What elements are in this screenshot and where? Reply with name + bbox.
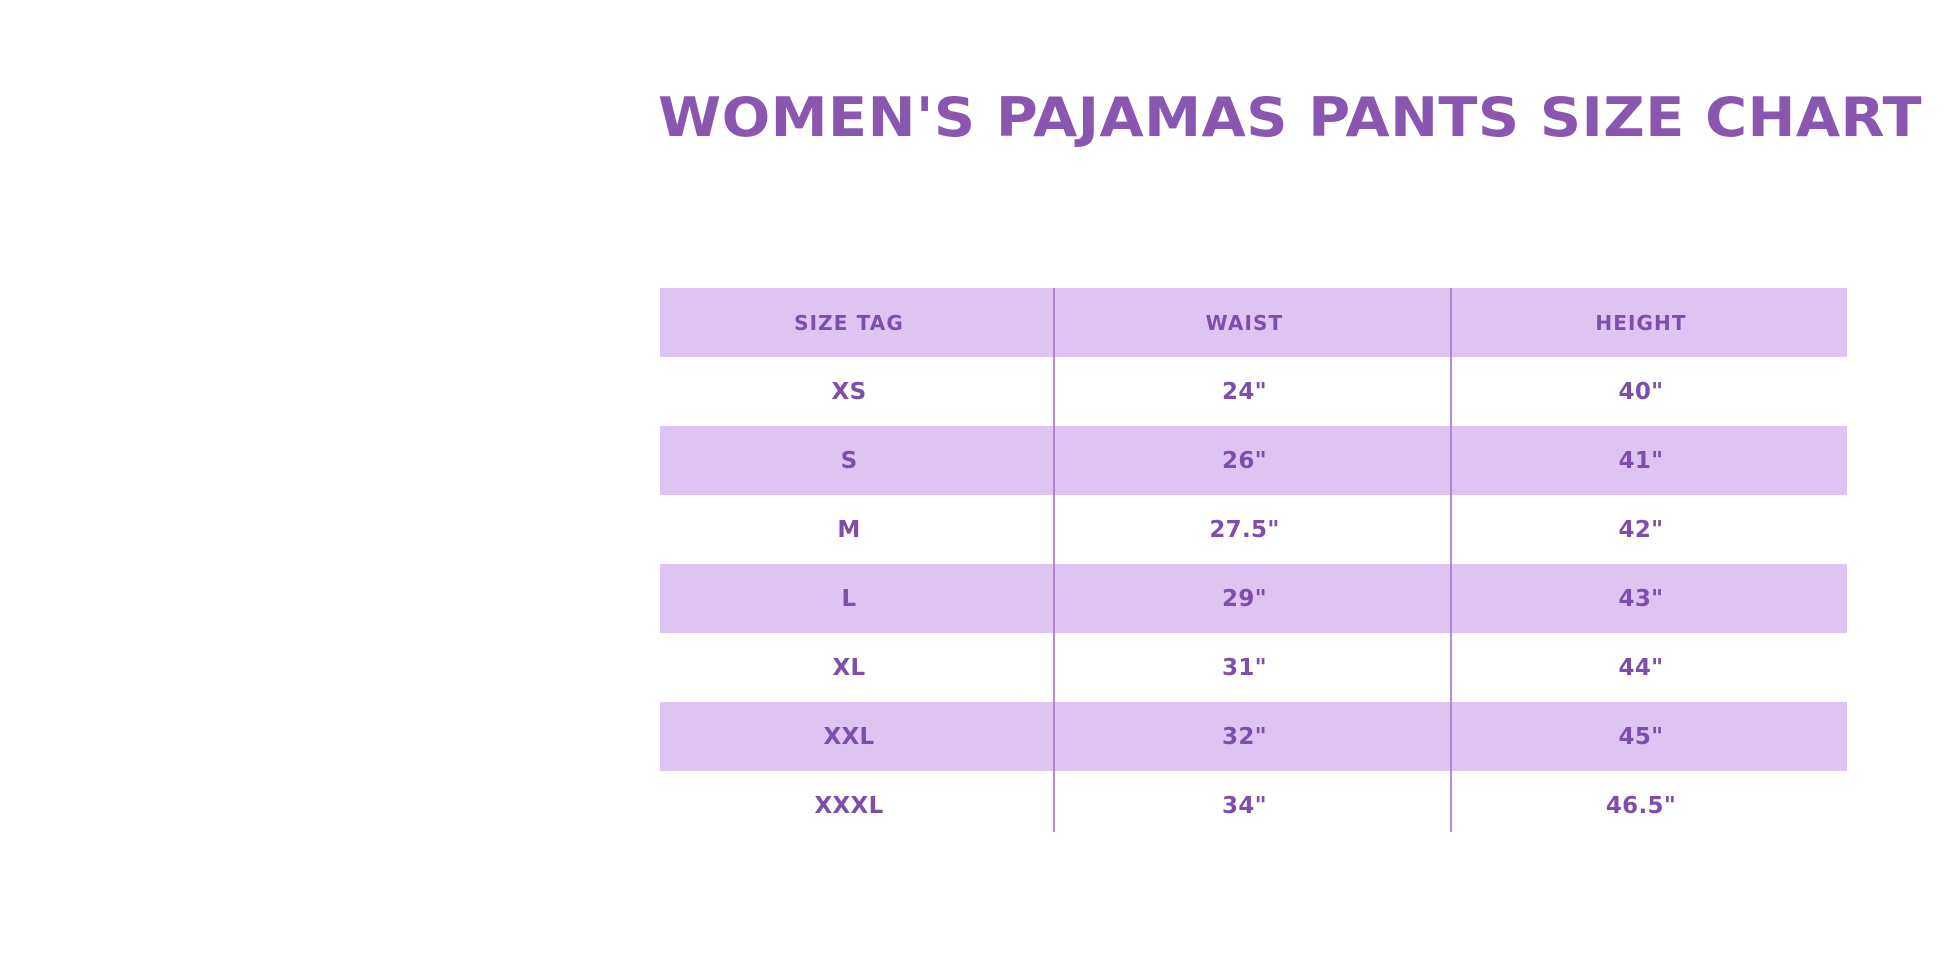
- cell-waist-value: 24": [1222, 379, 1267, 405]
- cell-height-value: 44": [1619, 655, 1664, 681]
- cell-waist: 29": [1054, 564, 1451, 633]
- cell-waist: 26": [1054, 426, 1451, 495]
- cell-height-value: 41": [1619, 448, 1664, 474]
- cell-height-value: 40": [1619, 379, 1664, 405]
- cell-size-tag: M: [660, 495, 1054, 564]
- cell-waist: 34": [1054, 771, 1451, 840]
- cell-size-tag: XL: [660, 633, 1054, 702]
- cell-size-tag-value: L: [842, 586, 857, 612]
- cell-size-tag-value: XL: [833, 655, 866, 681]
- table-header-row: SIZE TAG WAIST HEIGHT: [660, 288, 1847, 357]
- cell-size-tag: XXL: [660, 702, 1054, 771]
- table-row: XXL 32" 45": [660, 702, 1847, 771]
- cell-waist-value: 26": [1222, 448, 1267, 474]
- cell-waist: 27.5": [1054, 495, 1451, 564]
- cell-waist-value: 32": [1222, 724, 1267, 750]
- cell-size-tag: XS: [660, 357, 1054, 426]
- cell-height-value: 46.5": [1606, 793, 1676, 819]
- cell-waist-value: 31": [1222, 655, 1267, 681]
- cell-size-tag: L: [660, 564, 1054, 633]
- cell-height: 45": [1451, 702, 1847, 771]
- table-body: XS 24" 40" S 26" 41" M 27.5" 42" L 29": [660, 357, 1847, 840]
- column-header-height-label: HEIGHT: [1595, 311, 1686, 335]
- cell-height-value: 42": [1619, 517, 1664, 543]
- cell-size-tag-value: XXXL: [814, 793, 883, 819]
- cell-height: 42": [1451, 495, 1847, 564]
- page-title: WOMEN'S PAJAMAS PANTS SIZE CHART: [622, 86, 1946, 150]
- table-row: XL 31" 44": [660, 633, 1847, 702]
- cell-height-value: 43": [1619, 586, 1664, 612]
- table-row: L 29" 43": [660, 564, 1847, 633]
- cell-height: 43": [1451, 564, 1847, 633]
- column-header-size-tag: SIZE TAG: [660, 288, 1054, 357]
- column-divider-first: [1053, 288, 1055, 832]
- cell-waist-value: 34": [1222, 793, 1267, 819]
- column-header-waist: WAIST: [1054, 288, 1451, 357]
- cell-waist: 31": [1054, 633, 1451, 702]
- table-row: S 26" 41": [660, 426, 1847, 495]
- cell-size-tag: S: [660, 426, 1054, 495]
- size-chart-table-wrapper: SIZE TAG WAIST HEIGHT XS 24" 40": [660, 288, 1847, 832]
- table-row: M 27.5" 42": [660, 495, 1847, 564]
- cell-height: 41": [1451, 426, 1847, 495]
- cell-height: 46.5": [1451, 771, 1847, 840]
- column-header-size-tag-label: SIZE TAG: [794, 311, 904, 335]
- cell-height: 40": [1451, 357, 1847, 426]
- cell-waist-value: 27.5": [1209, 517, 1279, 543]
- cell-height-value: 45": [1619, 724, 1664, 750]
- cell-waist: 24": [1054, 357, 1451, 426]
- cell-size-tag-value: S: [841, 448, 858, 474]
- cell-size-tag-value: XS: [832, 379, 867, 405]
- cell-size-tag-value: XXL: [823, 724, 874, 750]
- table-row: XS 24" 40": [660, 357, 1847, 426]
- table-row: XXXL 34" 46.5": [660, 771, 1847, 840]
- cell-size-tag: XXXL: [660, 771, 1054, 840]
- cell-waist-value: 29": [1222, 586, 1267, 612]
- column-header-waist-label: WAIST: [1206, 311, 1284, 335]
- column-divider-second: [1450, 288, 1452, 832]
- size-chart-table: SIZE TAG WAIST HEIGHT XS 24" 40": [660, 288, 1847, 840]
- cell-size-tag-value: M: [837, 517, 860, 543]
- cell-height: 44": [1451, 633, 1847, 702]
- column-header-height: HEIGHT: [1451, 288, 1847, 357]
- table-header: SIZE TAG WAIST HEIGHT: [660, 288, 1847, 357]
- cell-waist: 32": [1054, 702, 1451, 771]
- size-chart-page: WOMEN'S PAJAMAS PANTS SIZE CHART SIZE TA…: [0, 0, 1946, 973]
